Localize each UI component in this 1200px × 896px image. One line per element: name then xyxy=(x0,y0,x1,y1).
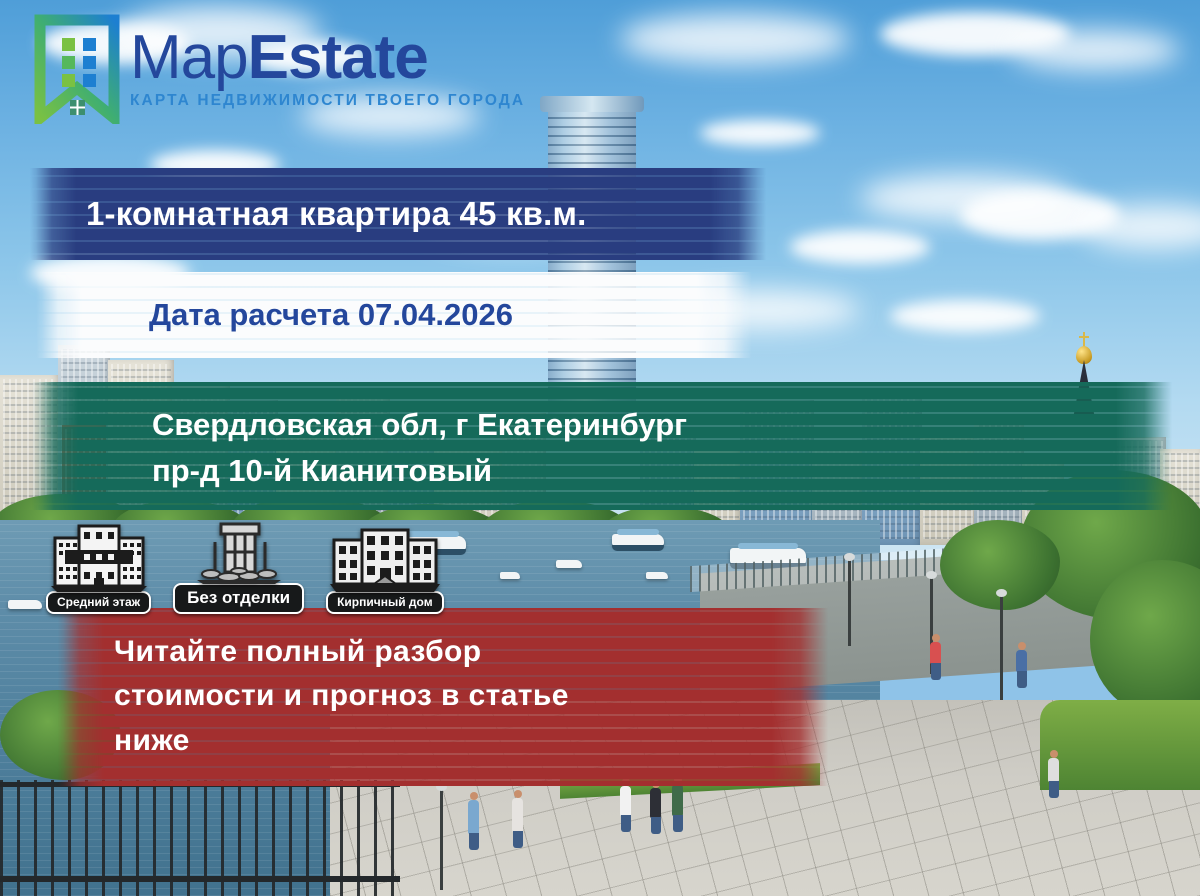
badge-brick-house: Кирпичный дом xyxy=(326,520,444,614)
street-lamp xyxy=(1000,596,1003,700)
pedestrian xyxy=(1048,758,1059,782)
calculation-date-banner: Дата расчета 07.04.2026 xyxy=(36,272,752,358)
address-line-1: Свердловская обл, г Екатеринбург xyxy=(152,407,687,442)
street-lamp xyxy=(848,560,851,646)
address-banner: Свердловская обл, г Екатеринбург пр-д 10… xyxy=(32,382,1172,510)
headline-text: 1-комнатная квартира 45 кв.м. xyxy=(30,195,587,233)
boat xyxy=(646,572,668,579)
cta-line-1: Читайте полный разбор xyxy=(114,635,481,668)
unfinished-construction-icon xyxy=(191,512,287,589)
boat xyxy=(500,572,520,579)
address-line-2: пр-д 10-й Кианитовый xyxy=(152,453,492,488)
iron-fence-base xyxy=(0,876,400,882)
cta-banner: Читайте полный разбор стоимости и прогно… xyxy=(58,608,828,786)
brand-name: MapEstate xyxy=(130,28,525,88)
brand-name-part2: Estate xyxy=(248,23,428,92)
brand-logo[interactable]: MapEstate КАРТА НЕДВИЖИМОСТИ ТВОЕГО ГОРО… xyxy=(34,14,525,124)
mid-floor-building-icon xyxy=(51,520,147,597)
boat xyxy=(556,560,582,568)
headline-banner: 1-комнатная квартира 45 кв.м. xyxy=(30,168,766,260)
street-lamp xyxy=(440,790,443,890)
address-text: Свердловская обл, г Екатеринбург пр-д 10… xyxy=(32,382,687,494)
cta-line-3: ниже xyxy=(114,724,190,757)
brand-name-part1: Map xyxy=(130,23,248,92)
pedestrian xyxy=(620,786,631,816)
badge-unfinished: Без отделки xyxy=(173,512,304,614)
promo-poster: MapEstate КАРТА НЕДВИЖИМОСТИ ТВОЕГО ГОРО… xyxy=(0,0,1200,896)
pedestrian xyxy=(672,784,683,816)
brand-tagline: КАРТА НЕДВИЖИМОСТИ ТВОЕГО ГОРОДА xyxy=(130,92,525,110)
tower-cap xyxy=(540,96,644,112)
map-bookmark-building-icon xyxy=(34,14,120,124)
pedestrian xyxy=(930,642,941,664)
boat xyxy=(8,600,42,609)
boat xyxy=(612,534,664,546)
badge-mid-floor: Средний этаж xyxy=(46,520,151,614)
cta-text: Читайте полный разбор стоимости и прогно… xyxy=(58,608,599,763)
brick-house-icon xyxy=(330,520,440,597)
cta-line-2: стоимости и прогноз в статье xyxy=(114,679,569,712)
pedestrian xyxy=(1016,650,1027,672)
pedestrian xyxy=(650,788,661,818)
pedestrian xyxy=(468,800,479,834)
feature-badges: Средний этаж xyxy=(46,512,444,614)
pedestrian xyxy=(512,798,523,832)
calculation-date-text: Дата расчета 07.04.2026 xyxy=(36,297,513,333)
